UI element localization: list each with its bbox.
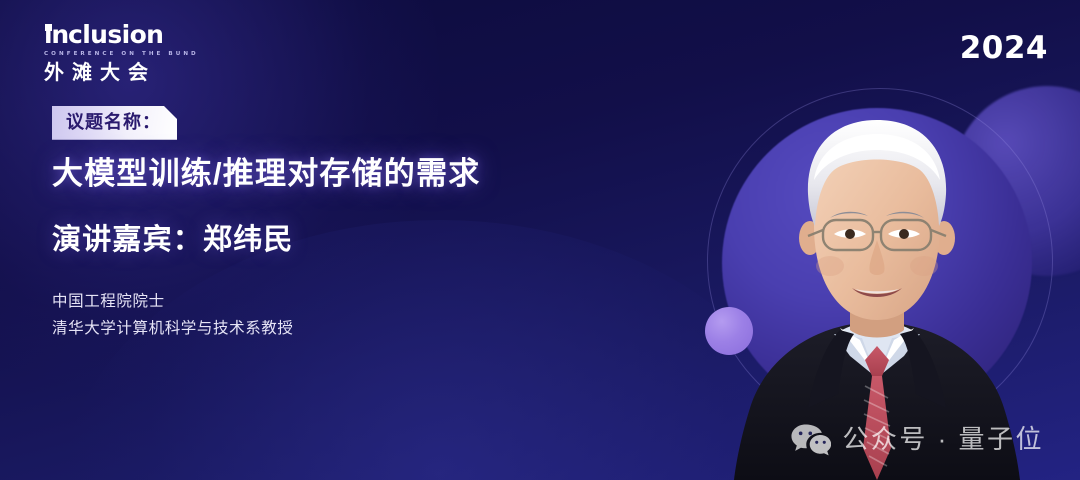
inclusion-logo: inclusion CONFERENCE ON THE BUND 外滩大会 [44,22,194,83]
logo-wordmark-rest: clusion [68,20,163,49]
speaker-line: 演讲嘉宾：郑纬民 [52,222,294,258]
wechat-icon [791,422,831,456]
logo-chinese: 外滩大会 [44,63,194,83]
session-card: inclusion CONFERENCE ON THE BUND 外滩大会 20… [0,0,1080,480]
session-badge: 议题名称： [52,106,177,140]
logo-subtitle: CONFERENCE ON THE BUND [44,51,194,57]
glow-bottom [60,220,820,480]
watermark: 公众号 · 量子位 [791,422,1044,456]
accent-dot-circle [705,307,753,355]
logo-mark-icon: in [44,22,68,47]
watermark-text: 公众号 · 量子位 [842,426,1044,452]
affiliation-line: 清华大学计算机科学与技术系教授 [52,315,294,342]
logo-wordmark: inclusion [44,22,194,47]
session-title: 大模型训练/推理对存储的需求 [52,155,480,194]
affiliation-line: 中国工程院院士 [52,288,294,315]
speaker-affiliations: 中国工程院院士 清华大学计算机科学与技术系教授 [52,288,294,342]
year-label: 2024 [960,30,1048,66]
